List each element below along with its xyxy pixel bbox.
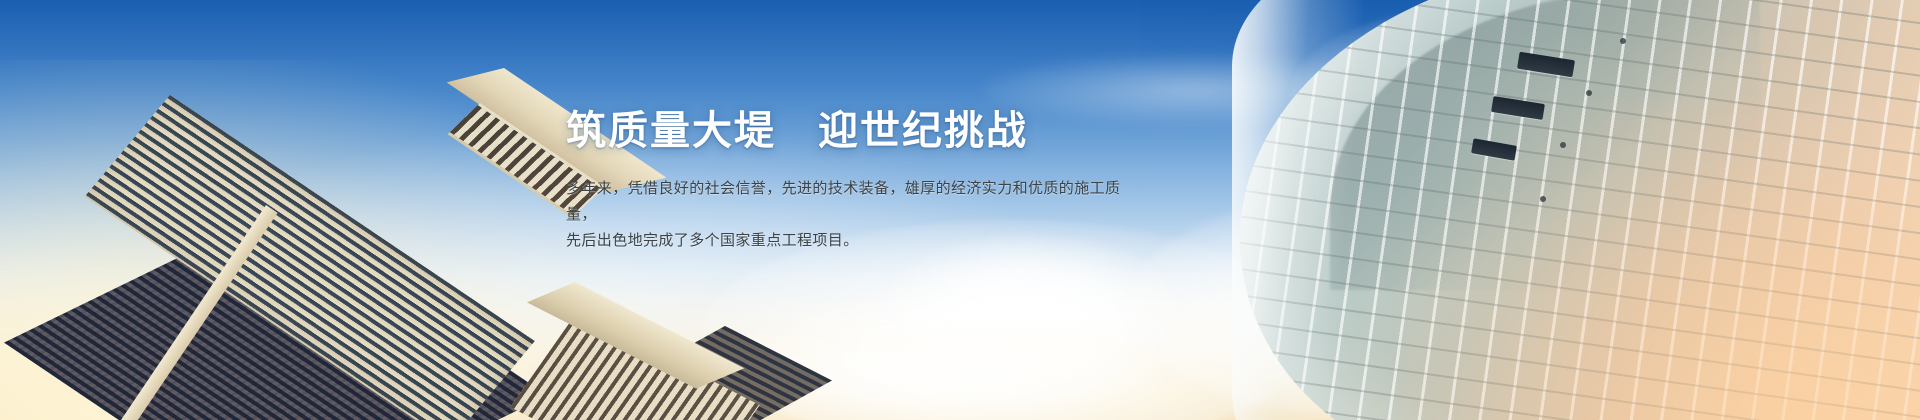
building-left-corner-edge bbox=[115, 205, 278, 420]
building-right-glass-reflection bbox=[1330, 0, 1760, 290]
building-right-curved-glass bbox=[1120, 0, 1920, 420]
building-right-floor-bands bbox=[1240, 0, 1920, 420]
building-secondary-roof bbox=[527, 282, 744, 389]
building-right-mass bbox=[1240, 0, 1920, 420]
building-right-vertical-mullions bbox=[1240, 0, 1920, 420]
sky-deep-blue-overlay bbox=[1140, 0, 1920, 300]
cloud-center-puff-lower bbox=[760, 290, 1180, 420]
building-right-sunlight-wash bbox=[1400, 100, 1920, 420]
banner-subcopy: 多年来，凭借良好的社会信誉，先进的技术装备，雄厚的经济实力和优质的施工质量， 先… bbox=[566, 176, 1126, 254]
cloud-bottom-band bbox=[520, 330, 1280, 420]
banner-headline: 筑质量大堤 迎世纪挑战 bbox=[566, 108, 1126, 154]
banner-text-block: 筑质量大堤 迎世纪挑战 多年来，凭借良好的社会信誉，先进的技术装备，雄厚的经济实… bbox=[566, 108, 1126, 254]
building-right-facade-fixing bbox=[1586, 90, 1592, 96]
building-right-louvre-slot bbox=[1491, 96, 1545, 120]
building-right-louvre-slot bbox=[1471, 138, 1517, 160]
building-secondary-side-face bbox=[609, 326, 832, 420]
building-left-shadow-face bbox=[4, 211, 547, 420]
cloud-center-puff-upper bbox=[880, 235, 1180, 385]
cloud-bright-right bbox=[1290, 10, 1630, 185]
building-right-edge-highlight bbox=[1232, 0, 1382, 420]
banner-subcopy-line-1: 多年来，凭借良好的社会信誉，先进的技术装备，雄厚的经济实力和优质的施工质量， bbox=[566, 176, 1126, 228]
building-right-facade-fixing bbox=[1560, 142, 1566, 148]
building-secondary-tower bbox=[575, 282, 875, 420]
building-secondary-front-face bbox=[510, 312, 759, 420]
cloud-lower-right bbox=[1130, 190, 1630, 420]
building-right-facade-fixing bbox=[1540, 196, 1546, 202]
banner-subcopy-line-2: 先后出色地完成了多个国家重点工程项目。 bbox=[566, 228, 1126, 254]
hero-banner: 筑质量大堤 迎世纪挑战 多年来，凭借良好的社会信誉，先进的技术装备，雄厚的经济实… bbox=[0, 0, 1920, 420]
building-left-front-face bbox=[85, 95, 535, 420]
building-right-facade-fixing bbox=[1620, 38, 1626, 44]
sky-horizon-glow bbox=[0, 60, 660, 420]
cloud-wisp-left bbox=[60, 300, 580, 410]
building-right-louvre-slot bbox=[1517, 52, 1575, 78]
